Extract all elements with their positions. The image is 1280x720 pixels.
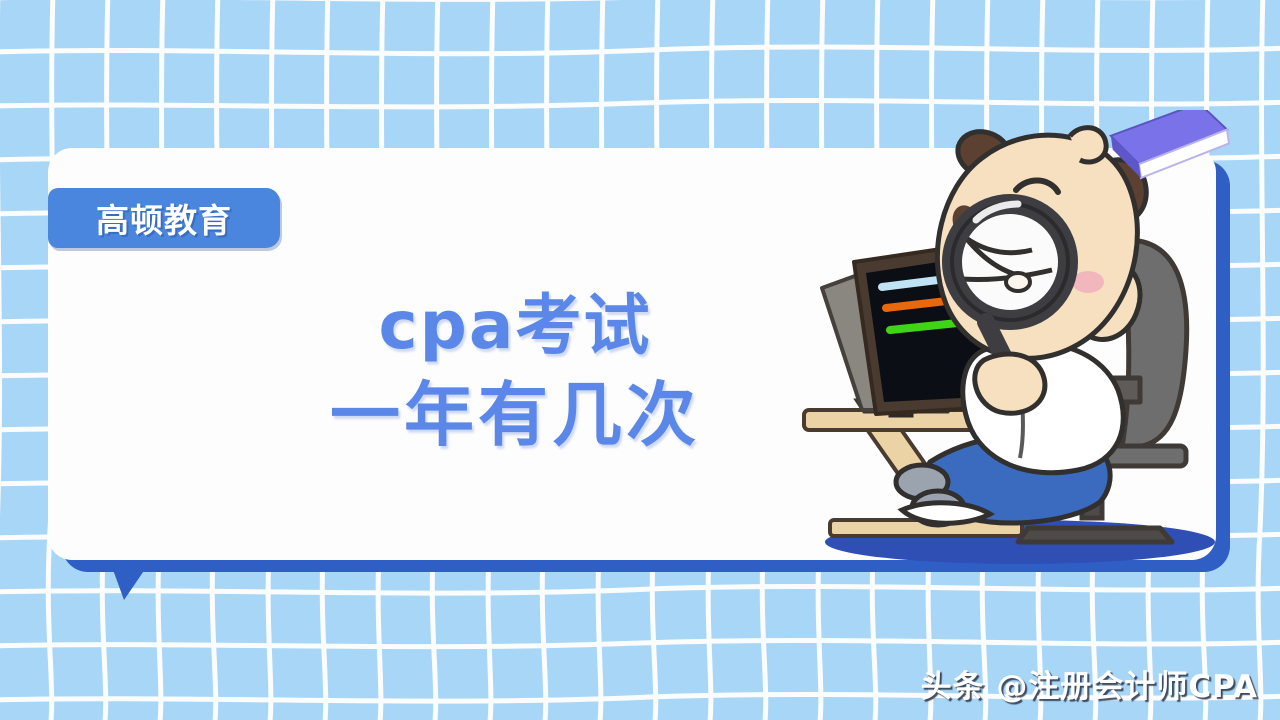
headline-line-1: cpa考试 xyxy=(300,282,730,369)
watermark-text: 头条 @注册会计师CPA xyxy=(921,661,1258,706)
headline-line-2: 一年有几次 xyxy=(300,369,730,461)
headline-block: cpa考试 一年有几次 xyxy=(300,282,730,462)
card-shadow-tail xyxy=(108,556,154,600)
slide-canvas: 高顿教育 cpa考试 一年有几次 头条 @注册会计师CPA xyxy=(0,0,1280,720)
brand-badge[interactable]: 高顿教育 xyxy=(48,188,280,248)
brand-badge-label: 高顿教育 xyxy=(96,194,232,242)
